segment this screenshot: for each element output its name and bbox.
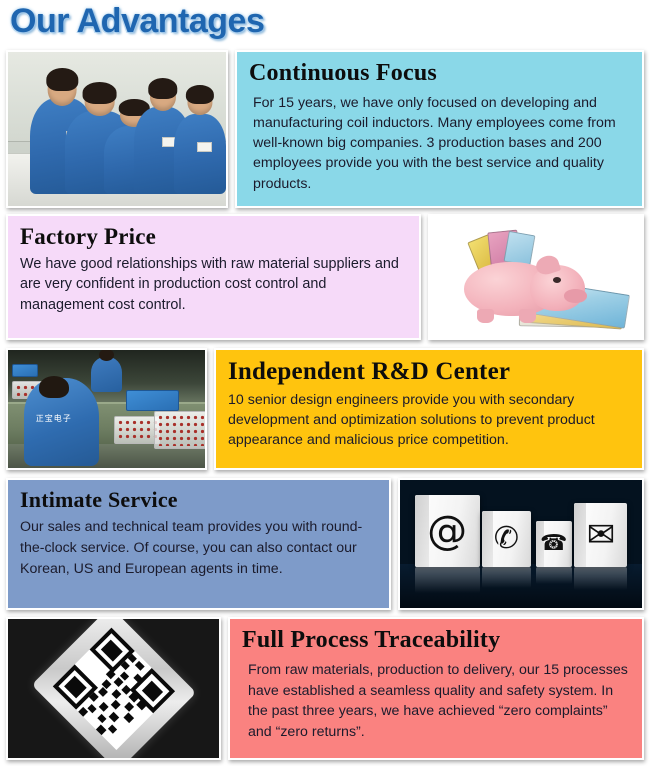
- id-badge: [197, 142, 212, 152]
- card-heading: Independent R&D Center: [228, 358, 630, 386]
- advantage-row-independent-rd: 正宝电子 Independent R&D Center 10 senior de…: [0, 348, 650, 470]
- workers-meeting-photo: [6, 50, 228, 208]
- qr-module: [121, 684, 131, 694]
- box-reflection: [574, 567, 627, 590]
- components: [117, 419, 156, 441]
- box-side-face: [482, 511, 493, 567]
- worker-head: [39, 376, 69, 399]
- card-body: 10 senior design engineers provide you w…: [228, 390, 630, 450]
- assembly-bench-photo: 正宝电子: [6, 348, 207, 470]
- card-body: From raw materials, production to delive…: [242, 660, 630, 743]
- qr-module: [111, 689, 121, 699]
- blue-parts-tray: [126, 390, 179, 411]
- advantage-card-intimate-service: Intimate Service Our sales and technical…: [6, 478, 391, 610]
- card-body: For 15 years, we have only focused on de…: [249, 93, 630, 194]
- advantage-card-factory-price: Factory Price We have good relationships…: [6, 214, 421, 340]
- page-title: Our Advantages: [10, 2, 264, 41]
- advantage-card-independent-rd: Independent R&D Center 10 senior design …: [214, 348, 644, 470]
- at-sign-icon: @: [415, 495, 480, 567]
- advantage-row-full-traceability: Full Process Traceability From raw mater…: [0, 617, 650, 760]
- worker-hair: [186, 85, 214, 104]
- qr-module: [123, 712, 133, 722]
- component-tray: [154, 411, 207, 448]
- qr-module: [134, 660, 144, 670]
- card-heading: Continuous Focus: [249, 60, 630, 87]
- box-reflection: [482, 567, 530, 587]
- box-reflection: [536, 567, 572, 584]
- piggy-bank-leg: [519, 309, 536, 324]
- advantage-card-continuous-focus: Continuous Focus For 15 years, we have o…: [235, 50, 644, 208]
- blue-parts-tray: [12, 364, 38, 377]
- qr-code-tag-photo: [6, 617, 221, 760]
- card-body: Our sales and technical team provides yo…: [20, 517, 377, 581]
- box-side-face: [574, 503, 586, 567]
- worker-hair: [47, 68, 78, 91]
- card-heading: Factory Price: [20, 224, 407, 250]
- qr-module: [107, 724, 117, 734]
- piggy-bank-leg: [477, 309, 494, 324]
- telephone-handset-icon: ✆: [482, 511, 530, 567]
- piggy-bank-euros-photo: 20: [428, 214, 644, 340]
- box-reflection: [415, 567, 480, 593]
- banknote: [504, 231, 536, 267]
- contact-icons-photo: @ ✆ ☎ ✉: [398, 478, 644, 610]
- worker-figure: [174, 114, 226, 194]
- components: [157, 414, 204, 445]
- worker-hair: [148, 78, 177, 99]
- worker-hair: [82, 82, 117, 104]
- worker-figure: 正宝电子: [24, 378, 99, 465]
- card-heading: Intimate Service: [20, 488, 377, 513]
- advantage-row-continuous-focus: Continuous Focus For 15 years, we have o…: [0, 50, 650, 208]
- qr-module: [96, 724, 106, 734]
- card-body: We have good relationships with raw mate…: [20, 254, 407, 315]
- mobile-phone-icon: ☎: [536, 521, 572, 567]
- qr-module: [109, 712, 119, 722]
- background-worker-figure: [91, 357, 123, 392]
- piggy-bank-snout: [564, 289, 587, 302]
- advantage-row-factory-price: Factory Price We have good relationships…: [0, 214, 650, 340]
- uniform-logo: 正宝电子: [36, 413, 72, 424]
- qr-module: [124, 701, 134, 711]
- qr-module: [98, 701, 108, 711]
- advantage-row-intimate-service: Intimate Service Our sales and technical…: [0, 478, 650, 610]
- qr-module: [97, 714, 107, 724]
- advantage-card-full-traceability: Full Process Traceability From raw mater…: [228, 617, 644, 760]
- card-heading: Full Process Traceability: [242, 627, 630, 654]
- envelope-icon: ✉: [574, 503, 627, 567]
- qr-module: [111, 700, 121, 710]
- component-tray: [114, 416, 159, 444]
- worker-head: [99, 349, 114, 361]
